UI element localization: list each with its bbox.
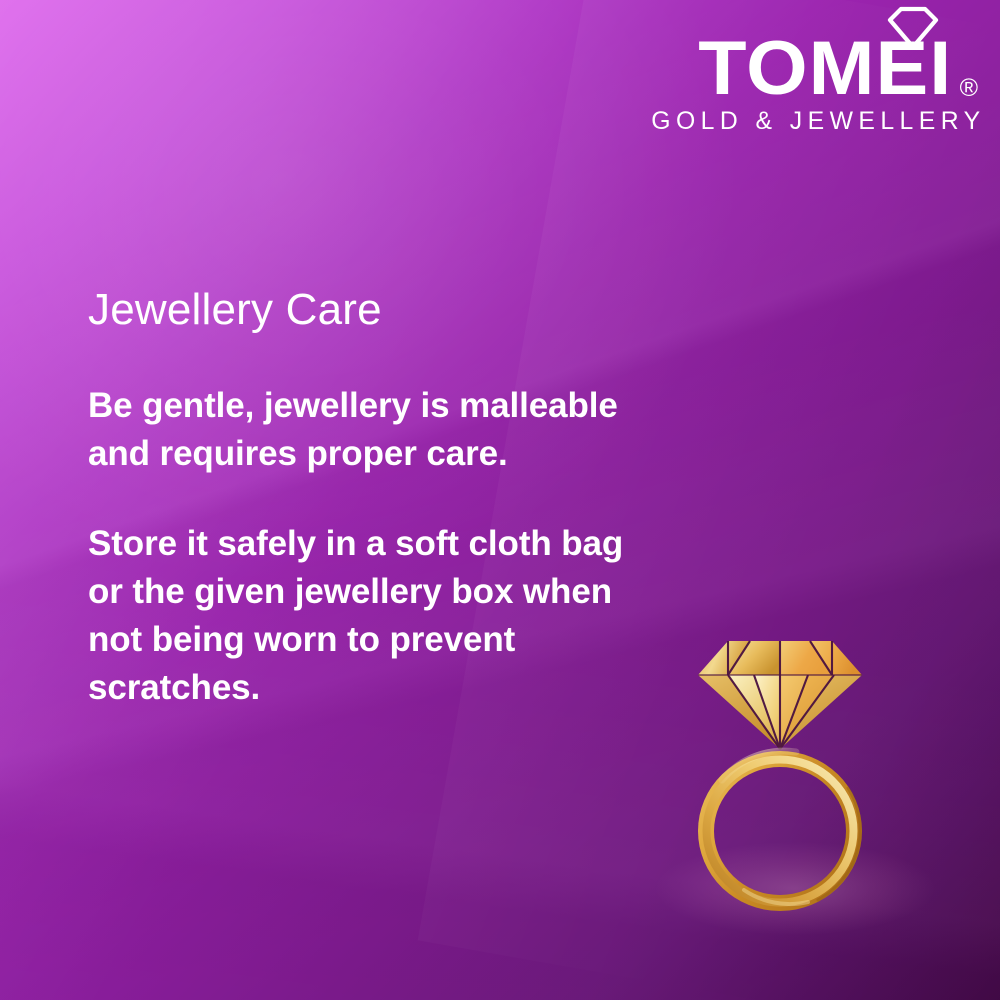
gold-band bbox=[688, 628, 894, 928]
body-paragraph-1: Be gentle, jewellery is malleable and re… bbox=[88, 382, 688, 478]
poster-canvas: TOMEI ® GOLD & JEWELLERY Jewellery Care … bbox=[0, 0, 1000, 1000]
brand-logo: TOMEI ® GOLD & JEWELLERY bbox=[648, 6, 978, 136]
brand-tagline: GOLD & JEWELLERY bbox=[651, 107, 976, 136]
page-title: Jewellery Care bbox=[88, 286, 688, 334]
brand-wordmark: TOMEI bbox=[699, 34, 953, 104]
wordmark-row: TOMEI ® bbox=[648, 6, 978, 104]
diamond-ring-illustration bbox=[688, 628, 894, 928]
body-paragraph-2: Store it safely in a soft cloth bag or t… bbox=[88, 520, 688, 712]
copy-block: Jewellery Care Be gentle, jewellery is m… bbox=[88, 286, 688, 712]
registered-trademark-symbol: ® bbox=[960, 76, 978, 101]
